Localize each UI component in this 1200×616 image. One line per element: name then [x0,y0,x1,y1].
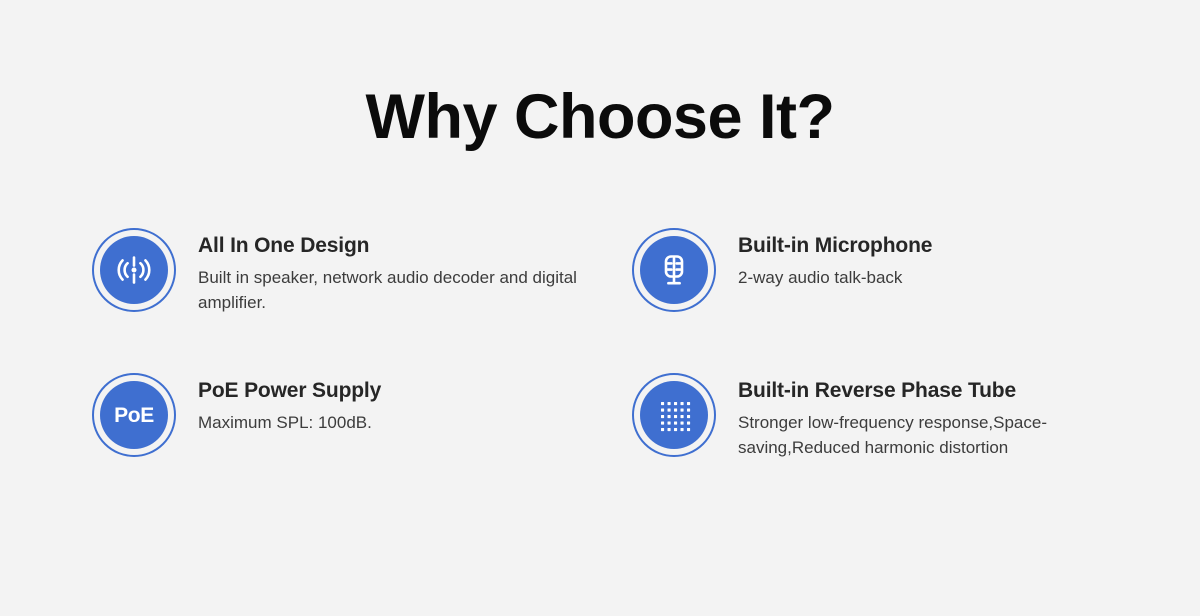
feature-text: All In One Design Built in speaker, netw… [198,228,588,316]
broadcast-waves-icon [100,236,168,304]
feature-icon-badge [92,228,176,312]
feature-description: Built in speaker, network audio decoder … [198,265,588,315]
feature-title: Built-in Microphone [738,233,932,259]
feature-description: Maximum SPL: 100dB. [198,410,381,435]
feature-item-all-in-one-design: All In One Design Built in speaker, netw… [92,228,592,316]
feature-icon-badge [632,228,716,312]
feature-description: 2-way audio talk-back [738,265,932,290]
feature-item-built-in-microphone: Built-in Microphone 2-way audio talk-bac… [632,228,1142,312]
feature-item-poe-power-supply: PoE PoE Power Supply Maximum SPL: 100dB. [92,373,592,457]
poe-icon-label: PoE [114,405,154,426]
feature-description: Stronger low-frequency response,Space-sa… [738,410,1138,460]
feature-icon-badge: PoE [92,373,176,457]
feature-icon-badge [632,373,716,457]
feature-text: Built-in Reverse Phase Tube Stronger low… [738,373,1138,461]
feature-item-built-in-reverse-phase-tube: Built-in Reverse Phase Tube Stronger low… [632,373,1142,461]
speaker-grille-dots-icon [640,381,708,449]
feature-text: PoE Power Supply Maximum SPL: 100dB. [198,373,381,435]
feature-text: Built-in Microphone 2-way audio talk-bac… [738,228,932,290]
feature-title: PoE Power Supply [198,378,381,404]
feature-title: Built-in Reverse Phase Tube [738,378,1138,404]
page-title: Why Choose It? [0,86,1200,149]
microphone-icon [640,236,708,304]
poe-text-icon: PoE [100,381,168,449]
why-choose-it-section: Why Choose It? [0,0,1200,616]
feature-title: All In One Design [198,233,588,259]
